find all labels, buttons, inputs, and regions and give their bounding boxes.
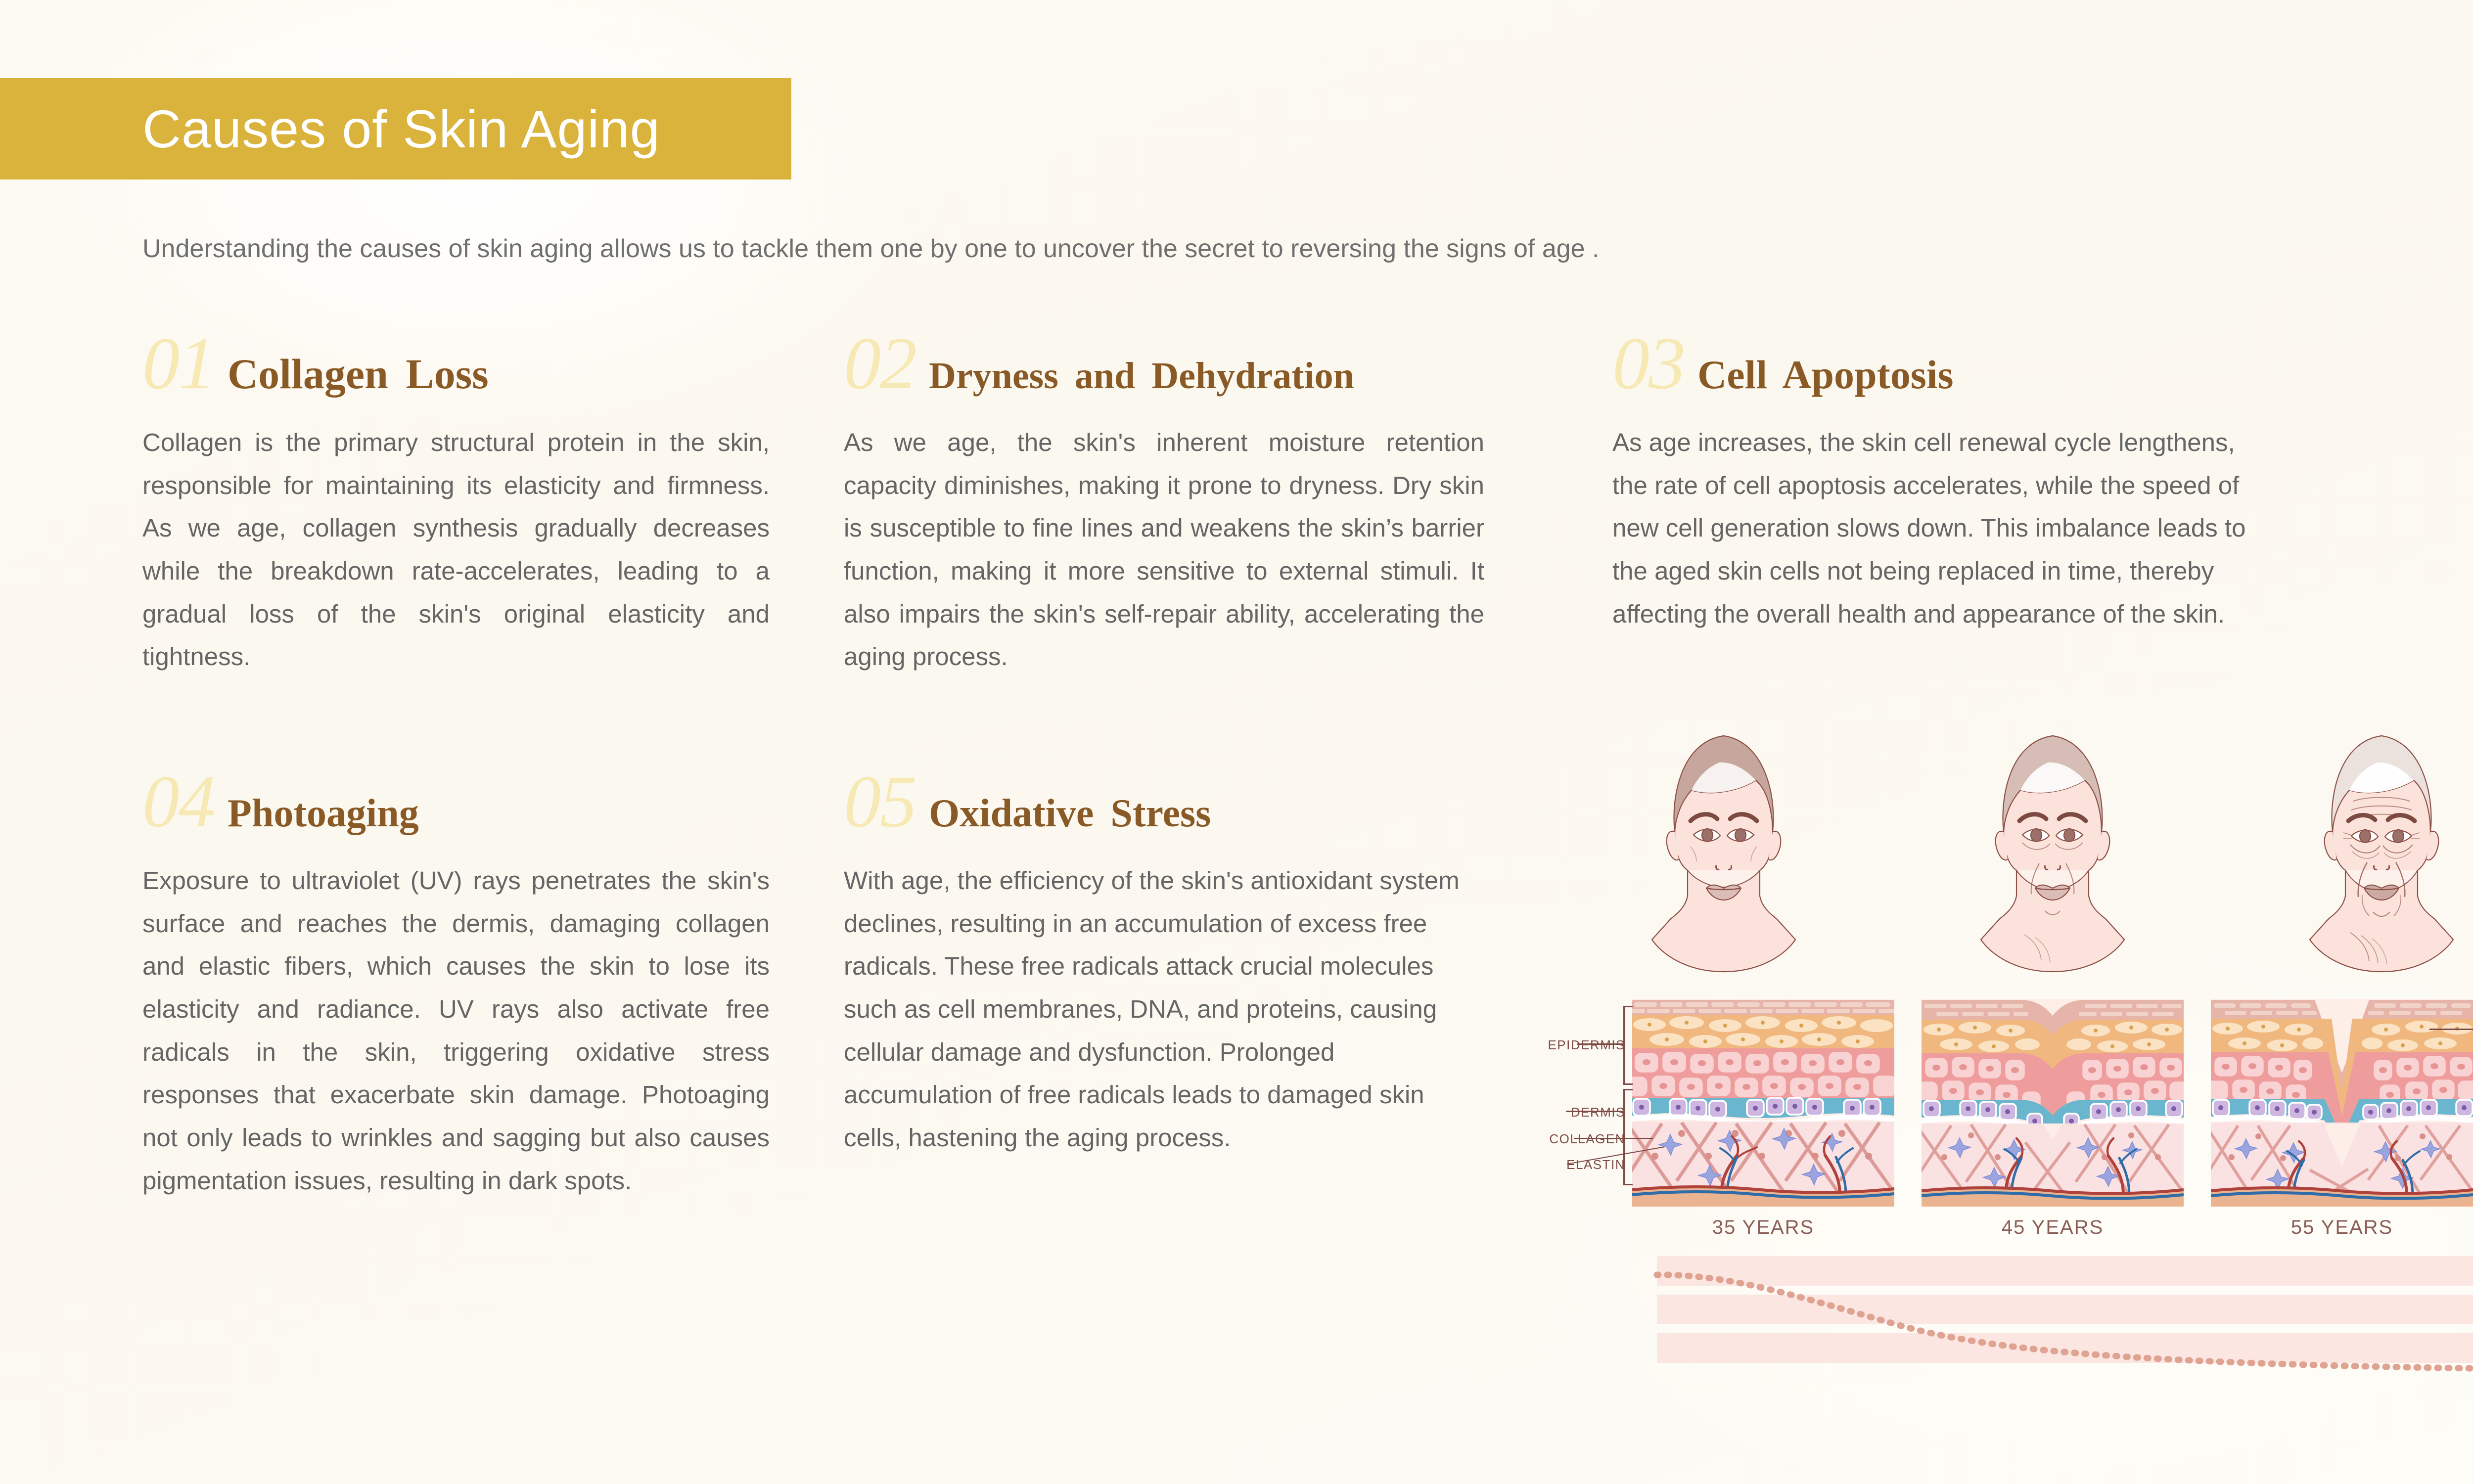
- skin-aging-illustration: EPIDERMIS DERMIS COLLAGEN ELASTIN WRINKL…: [1513, 722, 2473, 1439]
- leader-line-wrinkles: [2429, 1029, 2473, 1030]
- label-collagen: COLLAGEN: [1549, 1131, 1625, 1147]
- bracket-dermis: [1623, 1089, 1631, 1185]
- age-labels-row: 35 YEARS 45 YEARS 55 YEARS: [1632, 1216, 2473, 1246]
- label-epidermis: EPIDERMIS: [1548, 1037, 1625, 1053]
- intro-paragraph: Understanding the causes of skin aging a…: [142, 232, 2319, 266]
- skin-cross-section-35: [1632, 999, 1894, 1207]
- age-label-45: 45 YEARS: [1922, 1216, 2184, 1246]
- card-number: 04: [142, 764, 215, 839]
- card-title: Cell Apoptosis: [1697, 355, 1954, 395]
- face-illustration-45: [1961, 722, 2144, 979]
- page-title: Causes of Skin Aging: [142, 98, 660, 160]
- card-number: 02: [844, 326, 916, 401]
- cause-card-oxidative-stress: 05 Oxidative Stress With age, the effici…: [844, 764, 1484, 1160]
- cause-card-dryness-dehydration: 02 Dryness and Dehydration As we age, th…: [844, 326, 1484, 678]
- card-heading: 01 Collagen Loss: [142, 326, 770, 401]
- card-title: Oxidative Stress: [929, 794, 1211, 833]
- leader-line-epidermis: [1577, 1043, 1624, 1045]
- page-title-bar: Causes of Skin Aging: [0, 78, 791, 180]
- card-heading: 04 Photoaging: [142, 764, 770, 839]
- card-body: As we age, the skin's inherent moisture …: [844, 421, 1484, 678]
- cause-card-photoaging: 04 Photoaging Exposure to ultraviolet (U…: [142, 764, 770, 1203]
- cause-card-collagen-loss: 01 Collagen Loss Collagen is the primary…: [142, 326, 770, 678]
- skin-cross-section-45: [1922, 999, 2184, 1207]
- decline-dotted-curve: [1642, 1251, 2473, 1380]
- skin-cross-section-55: [2211, 999, 2473, 1207]
- bracket-epidermis: [1623, 1006, 1631, 1085]
- skin-cross-section-row: [1632, 999, 2473, 1207]
- card-heading: 03 Cell Apoptosis: [1612, 326, 2255, 401]
- face-illustration-55: [2290, 722, 2473, 979]
- card-body: With age, the efficiency of the skin's a…: [844, 859, 1484, 1160]
- card-title: Collagen Loss: [228, 353, 489, 395]
- age-label-55: 55 YEARS: [2211, 1216, 2473, 1246]
- card-number: 03: [1612, 326, 1685, 401]
- faces-row: [1632, 722, 2473, 984]
- leader-line-dermis: [1566, 1111, 1624, 1112]
- decline-chart: [1657, 1256, 2473, 1375]
- card-body: As age increases, the skin cell renewal …: [1612, 421, 2255, 635]
- card-heading: 05 Oxidative Stress: [844, 764, 1484, 839]
- leader-line-collagen: [1574, 1138, 1653, 1139]
- age-label-35: 35 YEARS: [1632, 1216, 1894, 1246]
- cause-card-cell-apoptosis: 03 Cell Apoptosis As age increases, the …: [1612, 326, 2255, 635]
- skin-layer-labels: EPIDERMIS DERMIS COLLAGEN ELASTIN: [1513, 999, 1632, 1207]
- card-number: 01: [142, 326, 215, 401]
- label-dermis: DERMIS: [1571, 1105, 1625, 1120]
- card-title: Photoaging: [228, 794, 419, 833]
- card-heading: 02 Dryness and Dehydration: [844, 326, 1484, 401]
- card-body: Collagen is the primary structural prote…: [142, 421, 770, 678]
- face-illustration-35: [1632, 722, 1815, 979]
- card-number: 05: [844, 764, 916, 839]
- card-body: Exposure to ultraviolet (UV) rays penetr…: [142, 859, 770, 1203]
- card-title: Dryness and Dehydration: [929, 357, 1354, 395]
